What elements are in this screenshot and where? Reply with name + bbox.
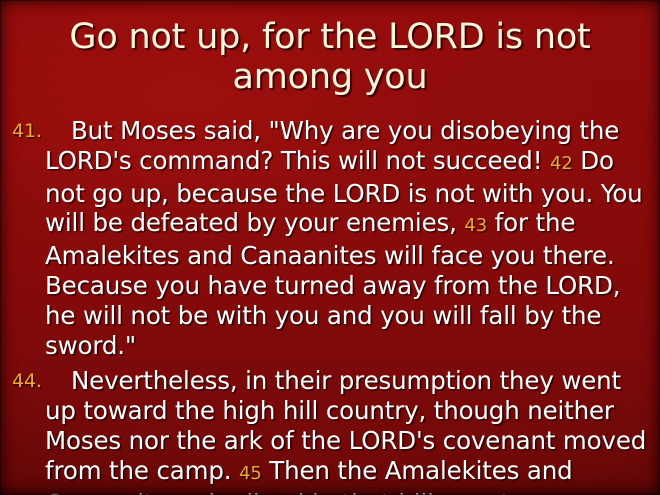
verse-paragraph-41: 41.But Moses said, "Why are you disobeyi… <box>8 116 652 360</box>
verse-paragraph-44: 44.Nevertheless, in their presumption th… <box>8 366 652 495</box>
verse-marker-44: 44. <box>12 369 44 393</box>
inline-verse-number: 45 <box>239 463 262 484</box>
slide-canvas: Go not up, for the LORD is not among you… <box>0 0 660 495</box>
inline-verse-number: 42 <box>550 153 573 174</box>
verse-marker-41: 41. <box>12 119 44 143</box>
slide-title: Go not up, for the LORD is not among you <box>26 17 634 97</box>
slide-body: 41.But Moses said, "Why are you disobeyi… <box>8 116 652 495</box>
paragraph-text-41: But Moses said, "Why are you disobeying … <box>45 116 643 360</box>
inline-verse-number: 43 <box>464 215 487 236</box>
paragraph-text-44: Nevertheless, in their presumption they … <box>45 366 646 495</box>
